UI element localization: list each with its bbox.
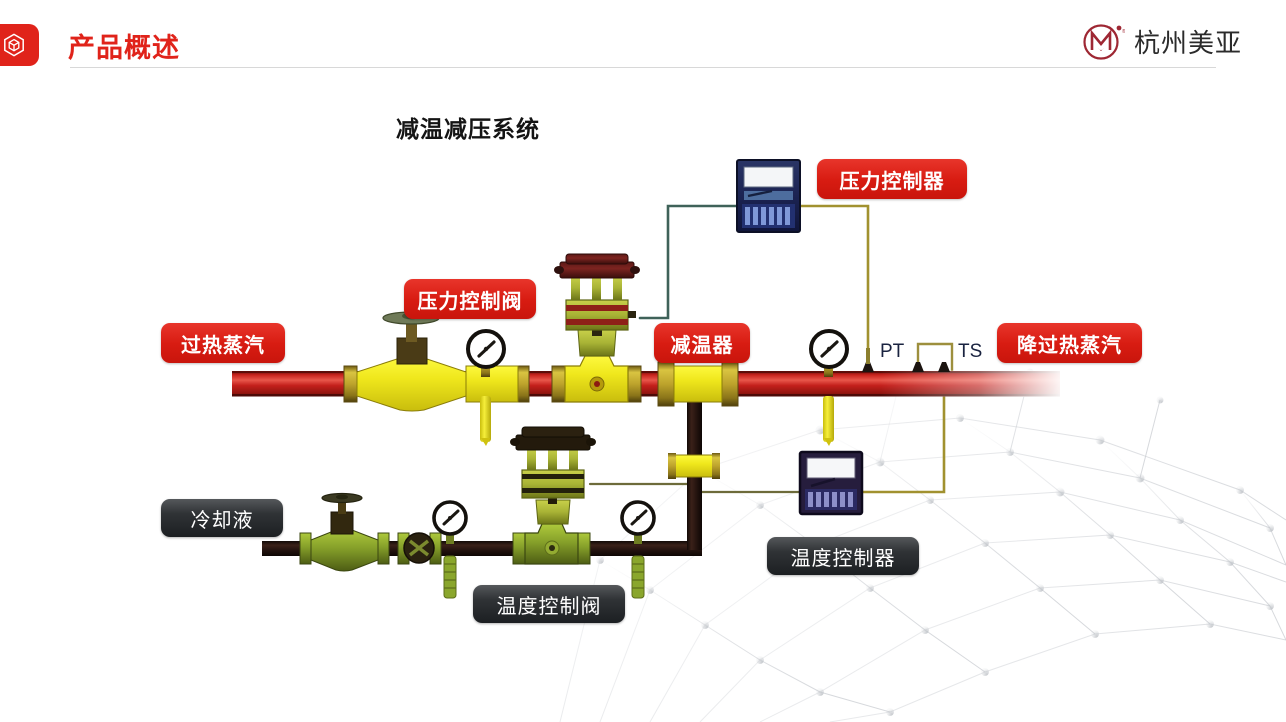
strainer-coolant <box>398 533 441 564</box>
label-desuperheated-steam: 降过热蒸汽 <box>997 323 1142 363</box>
temperature-controller-device <box>800 452 862 514</box>
pt-sensor <box>862 348 874 372</box>
label-pressure-controller: 压力控制器 <box>817 159 967 199</box>
pressure-control-valve <box>552 254 641 402</box>
ts-sensor <box>938 362 950 372</box>
label-superheated-steam: 过热蒸汽 <box>161 323 285 363</box>
label-desuperheater: 减温器 <box>654 323 750 363</box>
temperature-control-valve <box>510 427 596 564</box>
pt-tap-left <box>912 362 924 372</box>
slide-page: 产品概述 ® 杭州美亚 减温减压系统 <box>0 0 1286 722</box>
gate-valve-coolant <box>300 494 389 572</box>
label-pressure-control-valve: 压力控制阀 <box>404 279 536 319</box>
label-temperature-control-valve: 温度控制阀 <box>473 585 625 623</box>
pt-label: PT <box>880 341 904 363</box>
label-temperature-controller: 温度控制器 <box>767 537 919 575</box>
label-coolant: 冷却液 <box>161 499 283 537</box>
ts-label: TS <box>958 341 982 363</box>
pressure-controller-device <box>737 160 800 232</box>
